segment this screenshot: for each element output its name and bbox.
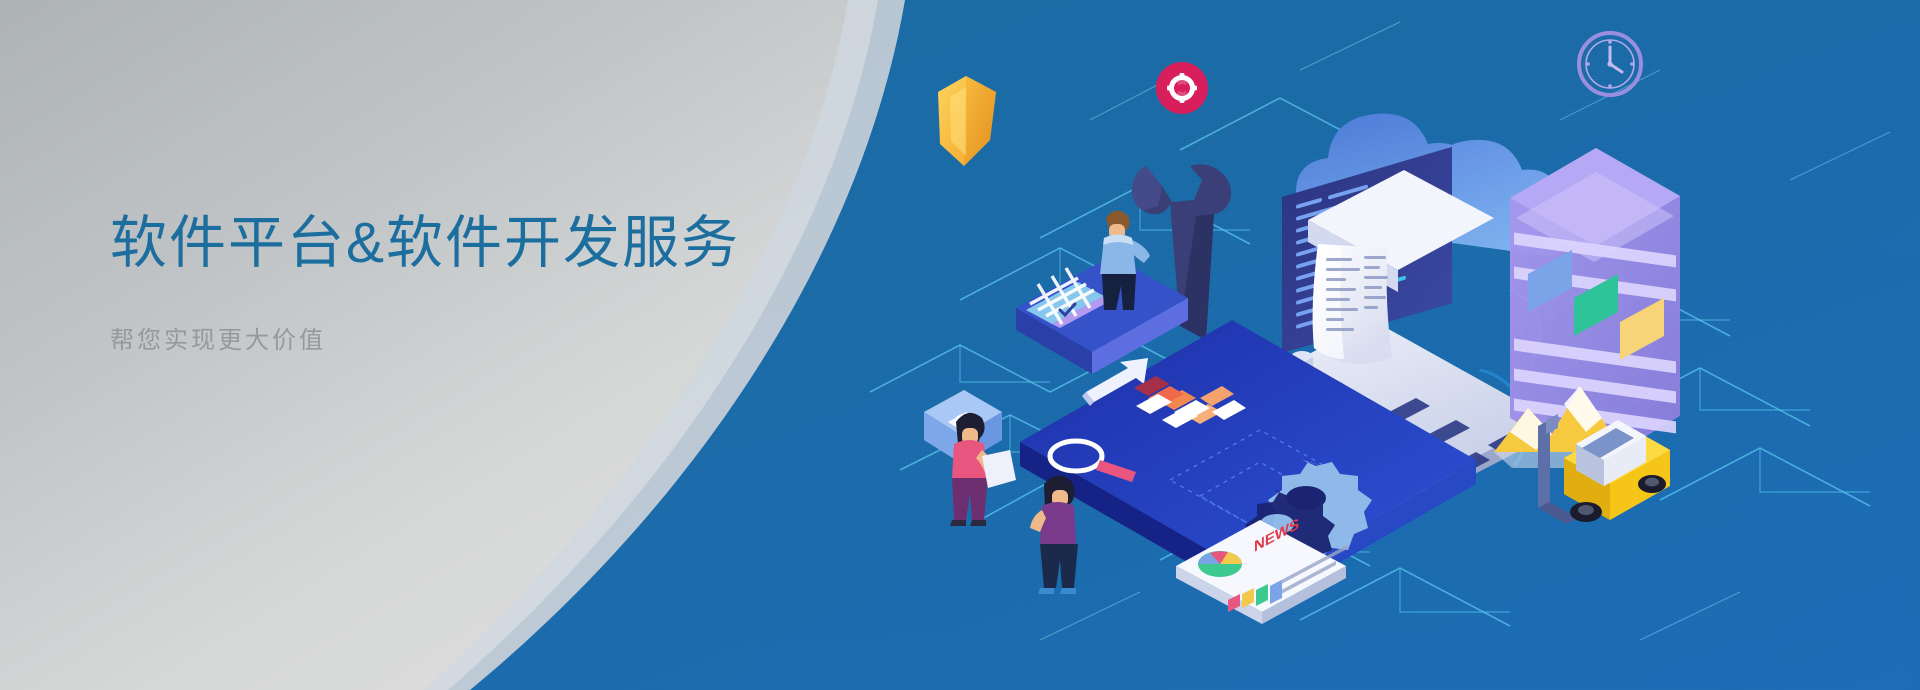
page-title: 软件平台&软件开发服务 — [110, 212, 740, 276]
page-subtitle: 帮您实现更大价值 — [110, 320, 740, 355]
hero-banner: NEWS — [0, 0, 1920, 690]
banner-text-block: 软件平台&软件开发服务 帮您实现更大价值 — [110, 212, 740, 355]
